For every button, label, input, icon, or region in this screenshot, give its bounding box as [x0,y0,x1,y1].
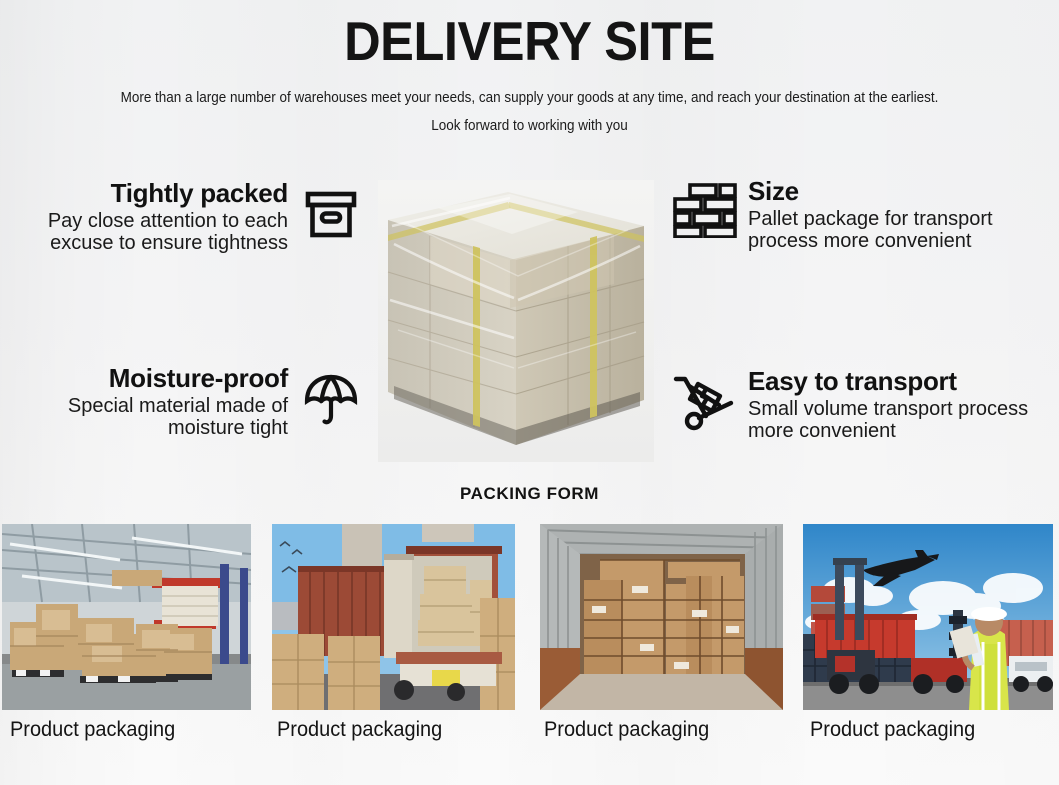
feature-text: Size Pallet package for transport proces… [748,178,1059,252]
archive-box-icon [302,186,360,249]
hand-truck-icon [672,372,738,437]
packing-image-1 [2,524,251,710]
subtitle-line-1: More than a large number of warehouses m… [37,90,1022,106]
packing-caption-4: Product packaging [810,718,975,742]
feature-description: Small volume transport process more conv… [748,398,1059,443]
packing-image-4 [803,524,1053,710]
packing-form-heading: PACKING FORM [0,484,1059,504]
feature-text: Tightly packed Pay close attention to ea… [0,180,288,254]
feature-description: Special material made of moisture tight [0,395,288,440]
feature-moisture-proof: Moisture-proof Special material made of … [0,365,360,439]
packing-image-2 [272,524,515,710]
feature-tightly-packed: Tightly packed Pay close attention to ea… [0,180,360,254]
subtitle-line-2: Look forward to working with you [37,118,1022,134]
brick-wall-icon [672,182,738,243]
packing-caption-1: Product packaging [10,718,175,742]
feature-description: Pallet package for transport process mor… [748,208,1059,253]
page-title: DELIVERY SITE [42,14,1016,69]
feature-description: Pay close attention to each excuse to en… [0,210,288,255]
packing-caption-3: Product packaging [544,718,709,742]
feature-heading: Tightly packed [0,180,288,208]
feature-easy-to-transport: Easy to transport Small volume transport… [672,368,1059,442]
packing-caption-2: Product packaging [277,718,442,742]
feature-heading: Easy to transport [748,368,1059,396]
feature-heading: Moisture-proof [0,365,288,393]
delivery-site-banner: DELIVERY SITE More than a large number o… [0,0,1059,785]
feature-size: Size Pallet package for transport proces… [672,178,1059,252]
feature-text: Easy to transport Small volume transport… [748,368,1059,442]
feature-heading: Size [748,178,1059,206]
pallet-photo [378,180,654,462]
packing-image-3 [540,524,783,710]
feature-text: Moisture-proof Special material made of … [0,365,288,439]
umbrella-icon [302,371,360,434]
